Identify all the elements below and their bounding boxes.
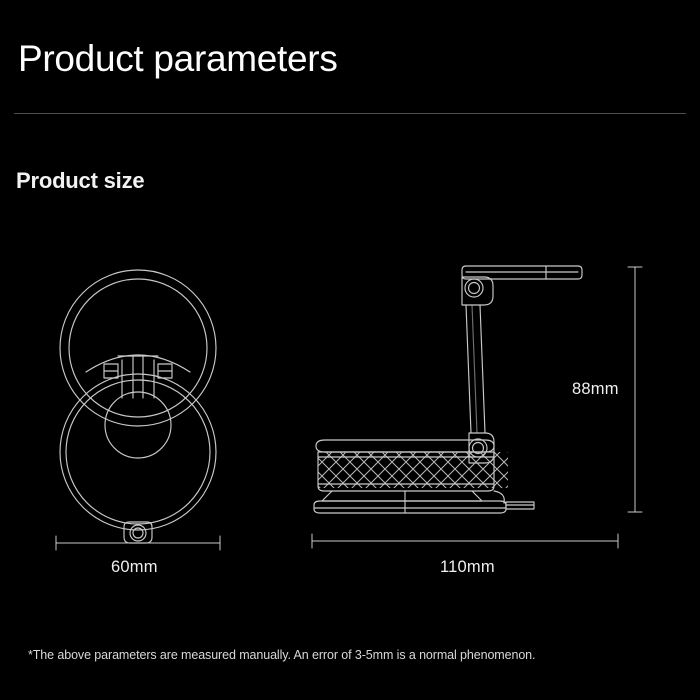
dimension-label-width-side-view: 110mm — [440, 558, 495, 577]
header-divider — [14, 113, 686, 114]
dimension-line-60mm — [56, 536, 220, 550]
product-parameters-page: Product parameters Product size — [0, 0, 700, 700]
dimension-label-height-side-view: 88mm — [572, 380, 619, 399]
dimension-label-width-top-view: 60mm — [111, 558, 158, 577]
dimension-line-88mm — [628, 267, 642, 512]
section-subtitle: Product size — [16, 170, 144, 192]
dimension-line-110mm — [312, 534, 618, 548]
footnote-text: *The above parameters are measured manua… — [28, 648, 535, 662]
top-view-drawing — [60, 270, 216, 543]
side-view-drawing — [314, 266, 582, 513]
page-title: Product parameters — [18, 40, 338, 77]
product-dimension-drawing — [0, 0, 700, 700]
